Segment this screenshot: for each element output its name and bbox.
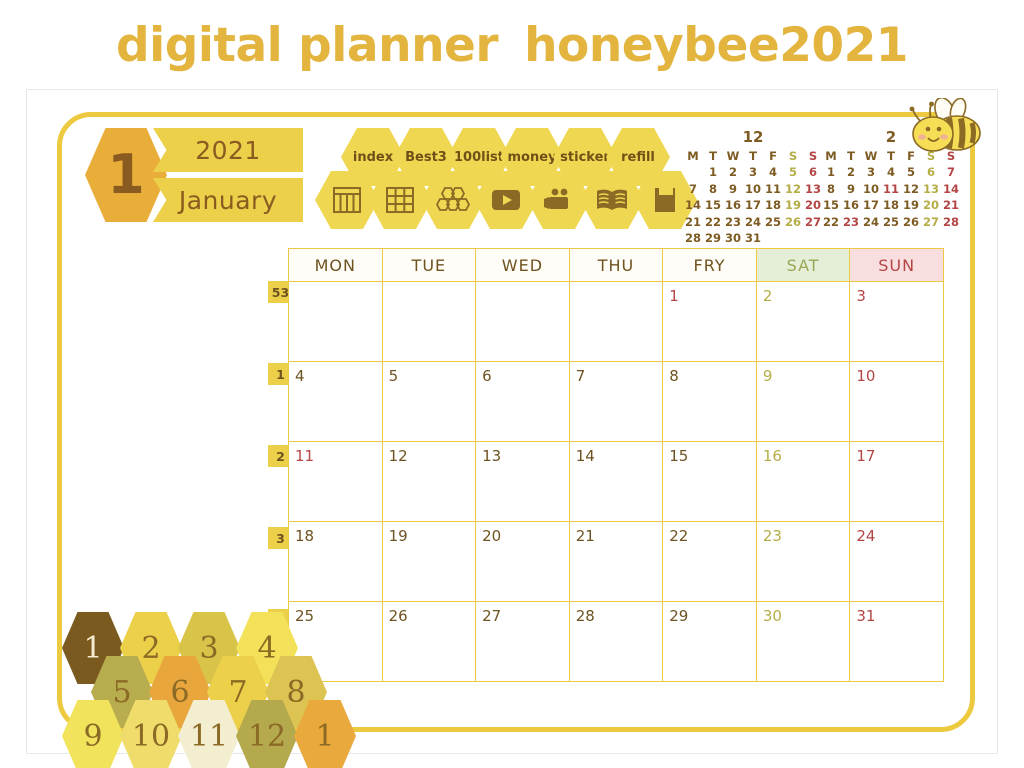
menu-label: refill <box>621 150 655 165</box>
month-nav-label: 12 <box>248 719 286 754</box>
mini-day: 6 <box>921 164 941 180</box>
mini-day: 1 <box>703 164 723 180</box>
calendar-week-row: 18192021222324 <box>289 522 944 602</box>
calendar-weekday-thu: THU <box>569 249 663 282</box>
menu-label: index <box>353 150 393 165</box>
mini-day: 13 <box>803 181 823 197</box>
calendar-day-cell[interactable]: 9 <box>756 362 850 442</box>
month-nav-label: 9 <box>83 719 102 754</box>
mini-day: 26 <box>783 214 803 230</box>
mini-day: 31 <box>743 230 763 246</box>
calendar-day-cell[interactable]: 7 <box>569 362 663 442</box>
year-label: 2021 <box>195 136 261 165</box>
calendar-week-row: 11121314151617 <box>289 442 944 522</box>
mini-day: 26 <box>901 214 921 230</box>
mini-day: 28 <box>941 214 961 230</box>
calendar-day-cell[interactable] <box>289 282 383 362</box>
mini-day: 11 <box>881 181 901 197</box>
mini-day: 10 <box>861 181 881 197</box>
mini-body-dec: 1234567891011121314151617181920212223242… <box>683 164 823 246</box>
mini-weekday: W <box>723 148 743 164</box>
mini-day: 1 <box>821 164 841 180</box>
mini-calendar-table: M T W T F S S 12345678910111213141516171… <box>683 148 823 246</box>
mini-day <box>763 230 783 246</box>
mini-week-row: 78910111213 <box>683 181 823 197</box>
mini-weekday: M <box>821 148 841 164</box>
mini-day: 27 <box>803 214 823 230</box>
mini-day: 30 <box>723 230 743 246</box>
calendar-day-cell[interactable]: 29 <box>663 602 757 682</box>
calendar-day-cell[interactable]: 27 <box>476 602 570 682</box>
calendar-day-cell[interactable]: 28 <box>569 602 663 682</box>
mini-day: 28 <box>683 230 703 246</box>
month-nav-label: 10 <box>132 719 170 754</box>
mini-header-row: M T W T F S S <box>683 148 823 164</box>
calendar-day-cell[interactable]: 26 <box>382 602 476 682</box>
calendar-day-cell[interactable]: 1 <box>663 282 757 362</box>
mini-day <box>803 230 823 246</box>
calendar-week-row: 123 <box>289 282 944 362</box>
calendar-day-cell[interactable]: 14 <box>569 442 663 522</box>
mini-day: 17 <box>743 197 763 213</box>
calendar-day-cell[interactable]: 16 <box>756 442 850 522</box>
mini-day: 3 <box>743 164 763 180</box>
mini-day: 4 <box>763 164 783 180</box>
month-nav-label: 1 <box>315 719 334 754</box>
calendar-day-cell[interactable]: 24 <box>850 522 944 602</box>
mini-day: 13 <box>921 181 941 197</box>
mini-day: 14 <box>941 181 961 197</box>
calendar-day-cell[interactable] <box>382 282 476 362</box>
calendar-day-cell[interactable]: 3 <box>850 282 944 362</box>
mini-day: 21 <box>941 197 961 213</box>
calendar-day-cell[interactable]: 13 <box>476 442 570 522</box>
mini-week-row: 1234567 <box>821 164 961 180</box>
mini-weekday: M <box>683 148 703 164</box>
mini-day: 5 <box>783 164 803 180</box>
calendar-day-cell[interactable] <box>476 282 570 362</box>
calendar-body: 1234567891011121314151617181920212223242… <box>289 282 944 682</box>
mini-week-row: 28293031 <box>683 230 823 246</box>
month-nav-item-12[interactable]: 12 <box>236 700 298 768</box>
title-right: honeybee2021 <box>524 22 908 69</box>
mini-weekday: T <box>743 148 763 164</box>
month-badge[interactable]: 1 2021 January <box>85 128 300 223</box>
calendar-day-cell[interactable]: 12 <box>382 442 476 522</box>
mini-day: 27 <box>921 214 941 230</box>
mini-weekday: F <box>763 148 783 164</box>
mini-day: 29 <box>703 230 723 246</box>
calendar-table: MON TUE WED THU FRY SAT SUN 123456789101… <box>288 248 944 682</box>
calendar-day-cell[interactable]: 4 <box>289 362 383 442</box>
month-nav-row-3: 91011121 <box>62 700 352 768</box>
menu-hexagons: index Best3 100list money sticker refill <box>333 128 663 228</box>
month-number: 1 <box>107 148 145 202</box>
mini-day: 12 <box>783 181 803 197</box>
calendar-weekday-sat: SAT <box>756 249 850 282</box>
main-calendar[interactable]: MON TUE WED THU FRY SAT SUN 123456789101… <box>288 248 944 679</box>
calendar-day-cell[interactable]: 6 <box>476 362 570 442</box>
mini-day: 23 <box>841 214 861 230</box>
mini-day: 21 <box>683 214 703 230</box>
mini-day: 14 <box>683 197 703 213</box>
mini-day: 8 <box>703 181 723 197</box>
mini-day: 15 <box>821 197 841 213</box>
page-title: digital planner honeybee2021 <box>0 14 1024 76</box>
mini-day: 6 <box>803 164 823 180</box>
mini-day: 25 <box>881 214 901 230</box>
calendar-day-cell[interactable]: 22 <box>663 522 757 602</box>
menu-label: 100list <box>454 150 504 165</box>
mini-week-row: 21222324252627 <box>683 214 823 230</box>
mini-day: 12 <box>901 181 921 197</box>
mini-week-row: 14151617181920 <box>683 197 823 213</box>
mini-day: 15 <box>703 197 723 213</box>
calendar-day-cell[interactable]: 15 <box>663 442 757 522</box>
mini-day <box>683 164 703 180</box>
mini-day: 16 <box>841 197 861 213</box>
mini-week-row: 123456 <box>683 164 823 180</box>
mini-day: 11 <box>763 181 783 197</box>
menu-label: sticker <box>560 150 610 165</box>
mini-day: 16 <box>723 197 743 213</box>
mini-day: 19 <box>783 197 803 213</box>
year-chevron[interactable]: 2021 <box>153 128 303 172</box>
month-name-label: January <box>179 186 277 215</box>
mini-week-row: 891011121314 <box>821 181 961 197</box>
month-number-hexagon[interactable]: 1 <box>85 128 167 222</box>
menu-label: money <box>507 150 556 165</box>
calendar-day-cell[interactable]: 2 <box>756 282 850 362</box>
month-name-chevron[interactable]: January <box>153 178 303 222</box>
planner-page: digital planner honeybee2021 1 2021 Janu… <box>0 0 1024 768</box>
mini-day: 22 <box>821 214 841 230</box>
calendar-day-cell[interactable]: 11 <box>289 442 383 522</box>
menu-label: Best3 <box>405 150 447 165</box>
mini-weekday: T <box>841 148 861 164</box>
month-nav[interactable]: 1234 5678 91011121 <box>30 612 305 762</box>
mini-day: 5 <box>901 164 921 180</box>
mini-weekday-sun: S <box>803 148 823 164</box>
calendar-day-cell[interactable]: 31 <box>850 602 944 682</box>
title-left: digital planner <box>116 22 498 69</box>
month-nav-item-10[interactable]: 10 <box>120 700 182 768</box>
menu-icon-row <box>315 171 686 229</box>
calendar-day-cell[interactable]: 5 <box>382 362 476 442</box>
mini-day: 4 <box>881 164 901 180</box>
mini-day: 2 <box>841 164 861 180</box>
month-nav-item-1[interactable]: 1 <box>294 700 356 768</box>
mini-day: 10 <box>743 181 763 197</box>
mini-day: 25 <box>763 214 783 230</box>
mini-day: 24 <box>861 214 881 230</box>
calendar-day-cell[interactable]: 8 <box>663 362 757 442</box>
calendar-weekday-sun: SUN <box>850 249 944 282</box>
calendar-day-cell[interactable]: 18 <box>289 522 383 602</box>
mini-day: 7 <box>683 181 703 197</box>
mini-day: 7 <box>941 164 961 180</box>
month-nav-item-9[interactable]: 9 <box>62 700 124 768</box>
calendar-weekday-tue: TUE <box>382 249 476 282</box>
calendar-weekday-mon: MON <box>289 249 383 282</box>
calendar-day-cell[interactable]: 30 <box>756 602 850 682</box>
mini-weekday-sat: S <box>783 148 803 164</box>
mini-day: 24 <box>743 214 763 230</box>
calendar-day-cell[interactable]: 23 <box>756 522 850 602</box>
calendar-day-cell[interactable]: 10 <box>850 362 944 442</box>
calendar-header-row: MON TUE WED THU FRY SAT SUN <box>289 249 944 282</box>
mini-day: 9 <box>723 181 743 197</box>
mini-weekday: T <box>881 148 901 164</box>
calendar-week-row: 45678910 <box>289 362 944 442</box>
mini-weekday: T <box>703 148 723 164</box>
mini-day: 9 <box>841 181 861 197</box>
calendar-week-row: 25262728293031 <box>289 602 944 682</box>
calendar-day-cell[interactable]: 21 <box>569 522 663 602</box>
calendar-day-cell[interactable]: 17 <box>850 442 944 522</box>
mini-day: 19 <box>901 197 921 213</box>
mini-weekday: W <box>861 148 881 164</box>
mini-day: 17 <box>861 197 881 213</box>
calendar-day-cell[interactable]: 19 <box>382 522 476 602</box>
calendar-weekday-fry: FRY <box>663 249 757 282</box>
calendar-weekday-wed: WED <box>476 249 570 282</box>
mini-day <box>783 230 803 246</box>
mini-day: 23 <box>723 214 743 230</box>
mini-calendar-title: 12 <box>683 128 823 146</box>
mini-week-row: 15161718192021 <box>821 197 961 213</box>
bee-icon <box>905 98 983 164</box>
month-nav-label: 11 <box>190 719 228 754</box>
mini-week-row: 22232425262728 <box>821 214 961 230</box>
calendar-day-cell[interactable]: 20 <box>476 522 570 602</box>
mini-day: 18 <box>763 197 783 213</box>
mini-calendar-december[interactable]: 12 M T W T F S S 12345678910111213141516… <box>683 128 823 246</box>
mini-body-feb: 1234567891011121314151617181920212223242… <box>821 164 961 230</box>
mini-day: 3 <box>861 164 881 180</box>
calendar-day-cell[interactable] <box>569 282 663 362</box>
mini-day: 22 <box>703 214 723 230</box>
mini-day: 2 <box>723 164 743 180</box>
mini-day: 18 <box>881 197 901 213</box>
month-nav-item-11[interactable]: 11 <box>178 700 240 768</box>
mini-day: 8 <box>821 181 841 197</box>
mini-day: 20 <box>921 197 941 213</box>
mini-day: 20 <box>803 197 823 213</box>
